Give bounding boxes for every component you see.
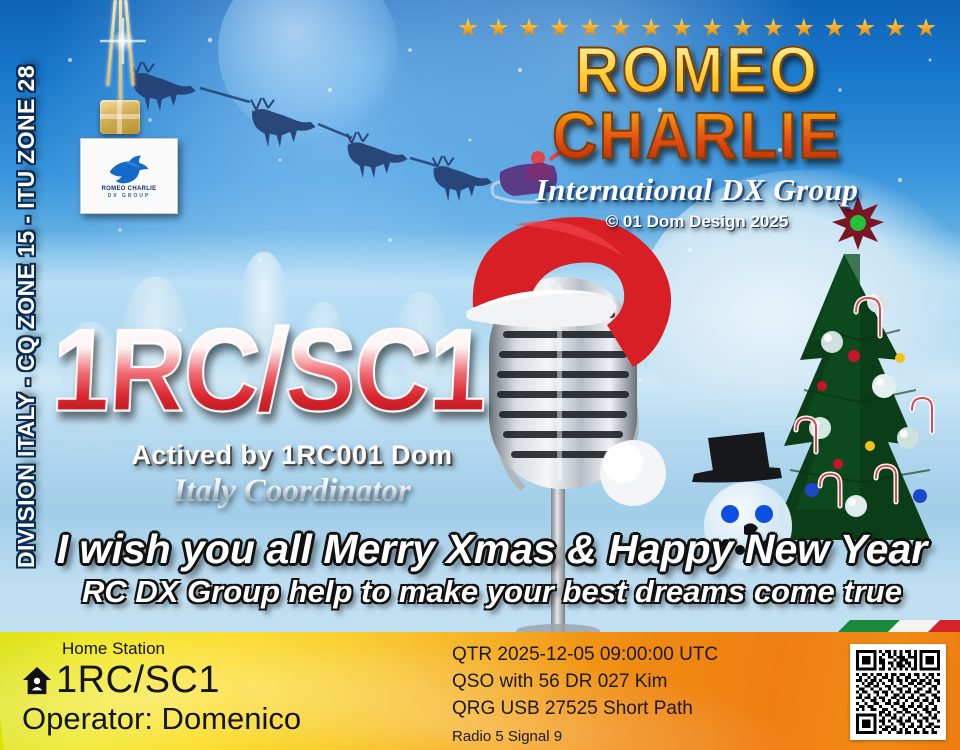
star-icon <box>489 18 509 38</box>
greeting-line-2: RC DX Group help to make your best dream… <box>52 576 932 609</box>
home-station-label: Home Station <box>62 640 422 659</box>
qso-with: QSO with 56 DR 027 Kim <box>452 669 832 696</box>
operator-name: Operator: Domenico <box>22 701 422 737</box>
activated-by-text: Actived by 1RC001 Dom <box>52 442 532 469</box>
qso-footer: Home Station 1RC/SC1 Operator: Domenico … <box>0 632 960 750</box>
star-icon <box>885 18 905 38</box>
sparkle-icon <box>100 18 146 64</box>
side-banner: DIVISION ITALY - CQ ZONE 15 - ITU ZONE 2… <box>0 0 52 632</box>
star-icon <box>458 18 478 38</box>
group-subtitle: International DX Group <box>452 174 942 207</box>
home-callsign-row: 1RC/SC1 <box>22 661 422 699</box>
star-icon <box>855 18 875 38</box>
dove-icon <box>106 154 152 184</box>
group-logo-badge: ROMEO CHARLIE DX GROUP <box>80 138 178 214</box>
qso-details-block: QTR 2025-12-05 09:00:00 UTC QSO with 56 … <box>452 642 832 747</box>
qso-report: Radio 5 Signal 9 <box>452 726 832 747</box>
badge-line-1: ROMEO CHARLIE <box>102 186 157 193</box>
home-callsign: 1RC/SC1 <box>56 661 220 699</box>
star-icon <box>916 18 936 38</box>
role-text: Italy Coordinator <box>52 475 532 508</box>
star-icon <box>824 18 844 38</box>
title-block: ROMEO CHARLIE International DX Group © 0… <box>452 18 942 230</box>
greeting-block: I wish you all Merry Xmas & Happy New Ye… <box>52 528 932 609</box>
home-icon <box>22 665 52 695</box>
greeting-line-1: I wish you all Merry Xmas & Happy New Ye… <box>52 528 932 571</box>
group-title: ROMEO CHARLIE <box>452 38 942 169</box>
qso-qtr: QTR 2025-12-05 09:00:00 UTC <box>452 642 832 669</box>
qso-qrg: QRG USB 27525 Short Path <box>452 696 832 723</box>
callsign-text: 1RC/SC1 <box>49 313 535 430</box>
star-icon <box>519 18 539 38</box>
callsign-block: 1RC/SC1 Actived by 1RC001 Dom Italy Coor… <box>52 318 532 508</box>
badge-line-2: DX GROUP <box>108 193 151 199</box>
gift-box-icon <box>100 100 140 134</box>
hanging-gift-ornament-icon <box>84 0 156 140</box>
qr-code-icon[interactable] <box>850 644 946 740</box>
qsl-card: DIVISION ITALY - CQ ZONE 15 - ITU ZONE 2… <box>0 0 960 750</box>
copyright-line: © 01 Dom Design 2025 <box>452 213 942 230</box>
home-station-block: Home Station 1RC/SC1 Operator: Domenico <box>22 640 422 736</box>
side-banner-label: DIVISION ITALY - CQ ZONE 15 - ITU ZONE 2… <box>15 65 38 568</box>
star-icon <box>550 18 570 38</box>
